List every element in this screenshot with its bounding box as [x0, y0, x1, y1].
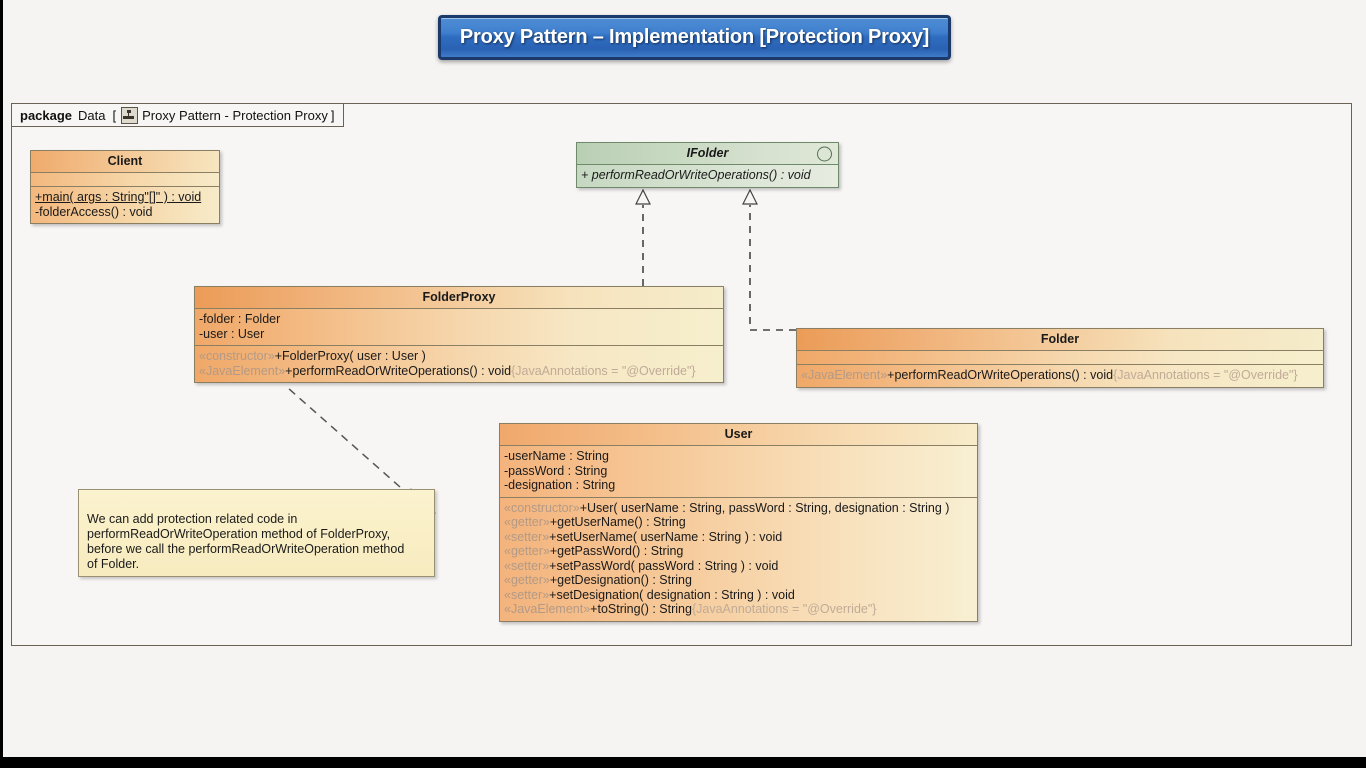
class-box-folderproxy[interactable]: FolderProxy -folder : Folder -user : Use… — [194, 286, 724, 383]
operation-row: «JavaElement»+performReadOrWriteOperatio… — [801, 368, 1319, 383]
class-box-ifolder[interactable]: IFolder + performReadOrWriteOperations()… — [576, 142, 839, 188]
operation-signature: +setDesignation( designation : String ) … — [549, 588, 795, 602]
operation-stereotype: «JavaElement» — [801, 368, 887, 382]
operation-row: «setter»+setPassWord( passWord : String … — [504, 559, 973, 574]
operation-stereotype: «getter» — [504, 573, 550, 587]
operation-signature: +performReadOrWriteOperations() : void — [887, 368, 1113, 382]
operations-compartment-user: «constructor»+User( userName : String, p… — [500, 498, 977, 621]
operation-stereotype: «JavaElement» — [504, 602, 590, 616]
page-title-banner: Proxy Pattern – Implementation [Protecti… — [438, 15, 951, 60]
operation-signature: +setPassWord( passWord : String ) : void — [549, 559, 778, 573]
operations-compartment-ifolder: + performReadOrWriteOperations() : void — [577, 165, 838, 187]
note-line: of Folder. — [87, 557, 424, 572]
operation-row: «constructor»+User( userName : String, p… — [504, 501, 973, 516]
operation-row: «setter»+setDesignation( designation : S… — [504, 588, 973, 603]
class-box-client[interactable]: Client +main( args : String"[]" ) : void… — [30, 150, 220, 224]
operation-annotation: {JavaAnnotations = "@Override"} — [1113, 368, 1298, 382]
attributes-compartment-user: -userName : String -passWord : String -d… — [500, 446, 977, 498]
operation-row: + performReadOrWriteOperations() : void — [581, 168, 834, 183]
package-name: Data — [78, 108, 105, 123]
note-line: before we call the performReadOrWriteOpe… — [87, 542, 424, 557]
operation-stereotype: «constructor» — [199, 349, 275, 363]
class-title-client: Client — [31, 151, 219, 173]
operations-compartment-folderproxy: «constructor»+FolderProxy( user : User )… — [195, 346, 723, 382]
class-title-folder: Folder — [797, 329, 1323, 351]
operations-compartment-folder: «JavaElement»+performReadOrWriteOperatio… — [797, 365, 1323, 387]
class-box-folder[interactable]: Folder «JavaElement»+performReadOrWriteO… — [796, 328, 1324, 388]
attributes-compartment-client — [31, 173, 219, 187]
class-title-user: User — [500, 424, 977, 446]
operation-stereotype: «constructor» — [504, 501, 580, 515]
operations-compartment-client: +main( args : String"[]" ) : void -folde… — [31, 187, 219, 223]
note-comment[interactable]: We can add protection related code in pe… — [78, 489, 435, 577]
attribute-row: -designation : String — [504, 478, 973, 493]
operation-signature: +setUserName( userName : String ) : void — [549, 530, 782, 544]
package-open-bracket: [ — [113, 108, 117, 123]
attribute-row: -user : User — [199, 327, 719, 342]
operation-row: «constructor»+FolderProxy( user : User ) — [199, 349, 719, 364]
operation-signature: +getDesignation() : String — [550, 573, 692, 587]
operation-signature: +getUserName() : String — [550, 515, 686, 529]
interface-ball-icon — [817, 146, 832, 161]
attributes-compartment-folder — [797, 351, 1323, 365]
operation-row: «getter»+getDesignation() : String — [504, 573, 973, 588]
operation-annotation: {JavaAnnotations = "@Override"} — [692, 602, 877, 616]
package-header-tab: package Data [ Proxy Pattern - Protectio… — [11, 103, 344, 127]
operation-signature: +FolderProxy( user : User ) — [275, 349, 426, 363]
operation-row: «getter»+getPassWord() : String — [504, 544, 973, 559]
operation-stereotype: «setter» — [504, 530, 549, 544]
operation-row: -folderAccess() : void — [35, 205, 215, 220]
operation-stereotype: «setter» — [504, 588, 549, 602]
operation-stereotype: «JavaElement» — [199, 364, 285, 378]
attributes-compartment-folderproxy: -folder : Folder -user : User — [195, 309, 723, 346]
package-diagram-name: Proxy Pattern - Protection Proxy — [142, 108, 328, 123]
operation-signature: +performReadOrWriteOperations() : void — [285, 364, 511, 378]
attribute-row: -userName : String — [504, 449, 973, 464]
bottom-border-bar — [0, 757, 1366, 768]
package-diagram-icon — [121, 107, 138, 124]
note-line: performReadOrWriteOperation method of Fo… — [87, 527, 424, 542]
operation-row: «getter»+getUserName() : String — [504, 515, 973, 530]
operation-row: «setter»+setUserName( userName : String … — [504, 530, 973, 545]
class-title-folderproxy: FolderProxy — [195, 287, 723, 309]
operation-row: «JavaElement»+toString() : String{JavaAn… — [504, 602, 973, 617]
operation-row: «JavaElement»+performReadOrWriteOperatio… — [199, 364, 719, 379]
attribute-row: -folder : Folder — [199, 312, 719, 327]
operation-stereotype: «getter» — [504, 515, 550, 529]
operation-row: +main( args : String"[]" ) : void — [35, 190, 215, 205]
package-close-bracket: ] — [331, 108, 335, 123]
page-title: Proxy Pattern – Implementation [Protecti… — [460, 26, 929, 49]
operation-signature: +User( userName : String, passWord : Str… — [580, 501, 950, 515]
operation-annotation: {JavaAnnotations = "@Override"} — [511, 364, 696, 378]
operation-stereotype: «getter» — [504, 544, 550, 558]
operation-signature: +toString() : String — [590, 602, 692, 616]
class-box-user[interactable]: User -userName : String -passWord : Stri… — [499, 423, 978, 622]
operation-signature: +getPassWord() : String — [550, 544, 684, 558]
class-title-ifolder: IFolder — [577, 143, 838, 165]
operation-stereotype: «setter» — [504, 559, 549, 573]
left-border-bar — [0, 0, 3, 757]
attribute-row: -passWord : String — [504, 464, 973, 479]
package-keyword: package — [20, 108, 72, 123]
interface-name: IFolder — [687, 146, 729, 160]
note-line: We can add protection related code in — [87, 512, 424, 527]
